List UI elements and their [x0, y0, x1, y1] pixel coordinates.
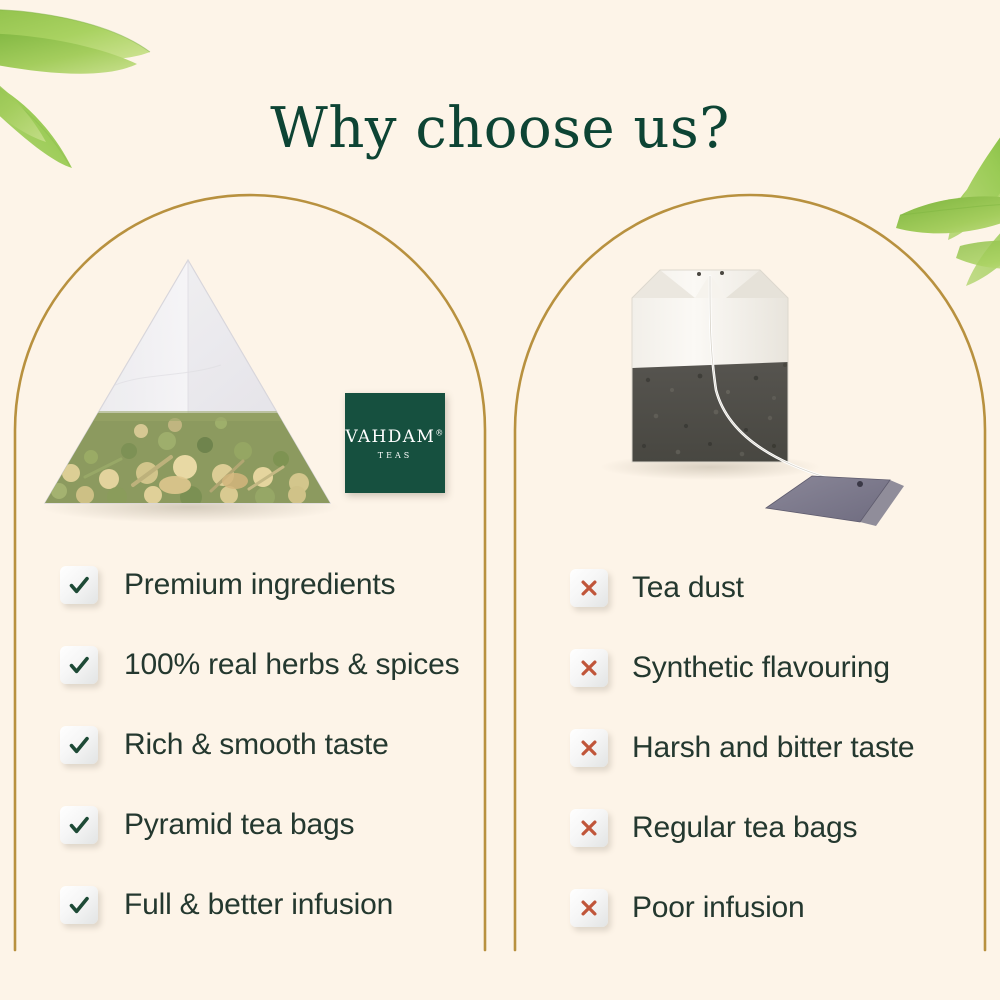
- page-title: Why choose us?: [0, 98, 1000, 160]
- check-icon: [60, 806, 98, 844]
- list-item: Rich & smooth taste: [60, 705, 490, 785]
- product-image-paper-bag: [515, 190, 985, 530]
- check-icon: [60, 646, 98, 684]
- paper-teabag-illustration: [560, 240, 960, 540]
- list-item: Full & better infusion: [60, 865, 490, 945]
- brand-name: VAHDAM®: [345, 427, 444, 447]
- list-item: Synthetic flavouring: [570, 628, 1000, 708]
- list-item: Harsh and bitter taste: [570, 708, 1000, 788]
- list-item: Premium ingredients: [60, 545, 490, 625]
- list-item-label: Pyramid tea bags: [124, 808, 354, 842]
- vahdam-brand-tag: VAHDAM® TEAS: [345, 393, 445, 493]
- list-item: Regular tea bags: [570, 788, 1000, 868]
- registered-mark: ®: [435, 428, 444, 437]
- list-item-label: 100% real herbs & spices: [124, 648, 459, 682]
- cross-icon: [570, 569, 608, 607]
- cross-icon: [570, 809, 608, 847]
- feature-list-pros: Premium ingredients 100% real herbs & sp…: [60, 545, 490, 945]
- list-item-label: Harsh and bitter taste: [632, 731, 914, 765]
- list-item-label: Full & better infusion: [124, 888, 393, 922]
- list-item-label: Regular tea bags: [632, 811, 857, 845]
- list-item: Poor infusion: [570, 868, 1000, 948]
- list-item-label: Poor infusion: [632, 891, 805, 925]
- list-item-label: Rich & smooth taste: [124, 728, 389, 762]
- check-icon: [60, 566, 98, 604]
- list-item-label: Tea dust: [632, 571, 744, 605]
- cross-icon: [570, 889, 608, 927]
- cross-icon: [570, 729, 608, 767]
- list-item: 100% real herbs & spices: [60, 625, 490, 705]
- check-icon: [60, 726, 98, 764]
- feature-list-cons: Tea dust Synthetic flavouring Harsh and …: [570, 548, 1000, 948]
- product-image-pyramid-bag: VAHDAM® TEAS: [15, 190, 485, 530]
- brand-tagline: TEAS: [378, 451, 412, 460]
- list-item-label: Synthetic flavouring: [632, 651, 890, 685]
- column-vahdam: VAHDAM® TEAS Premium ingredients: [15, 190, 485, 960]
- list-item-label: Premium ingredients: [124, 568, 395, 602]
- paper-tag: [766, 476, 904, 526]
- column-ordinary: Tea dust Synthetic flavouring Harsh and …: [515, 190, 985, 960]
- cross-icon: [570, 649, 608, 687]
- list-item: Pyramid tea bags: [60, 785, 490, 865]
- list-item: Tea dust: [570, 548, 1000, 628]
- check-icon: [60, 886, 98, 924]
- comparison-infographic: Why choose us?: [0, 0, 1000, 1000]
